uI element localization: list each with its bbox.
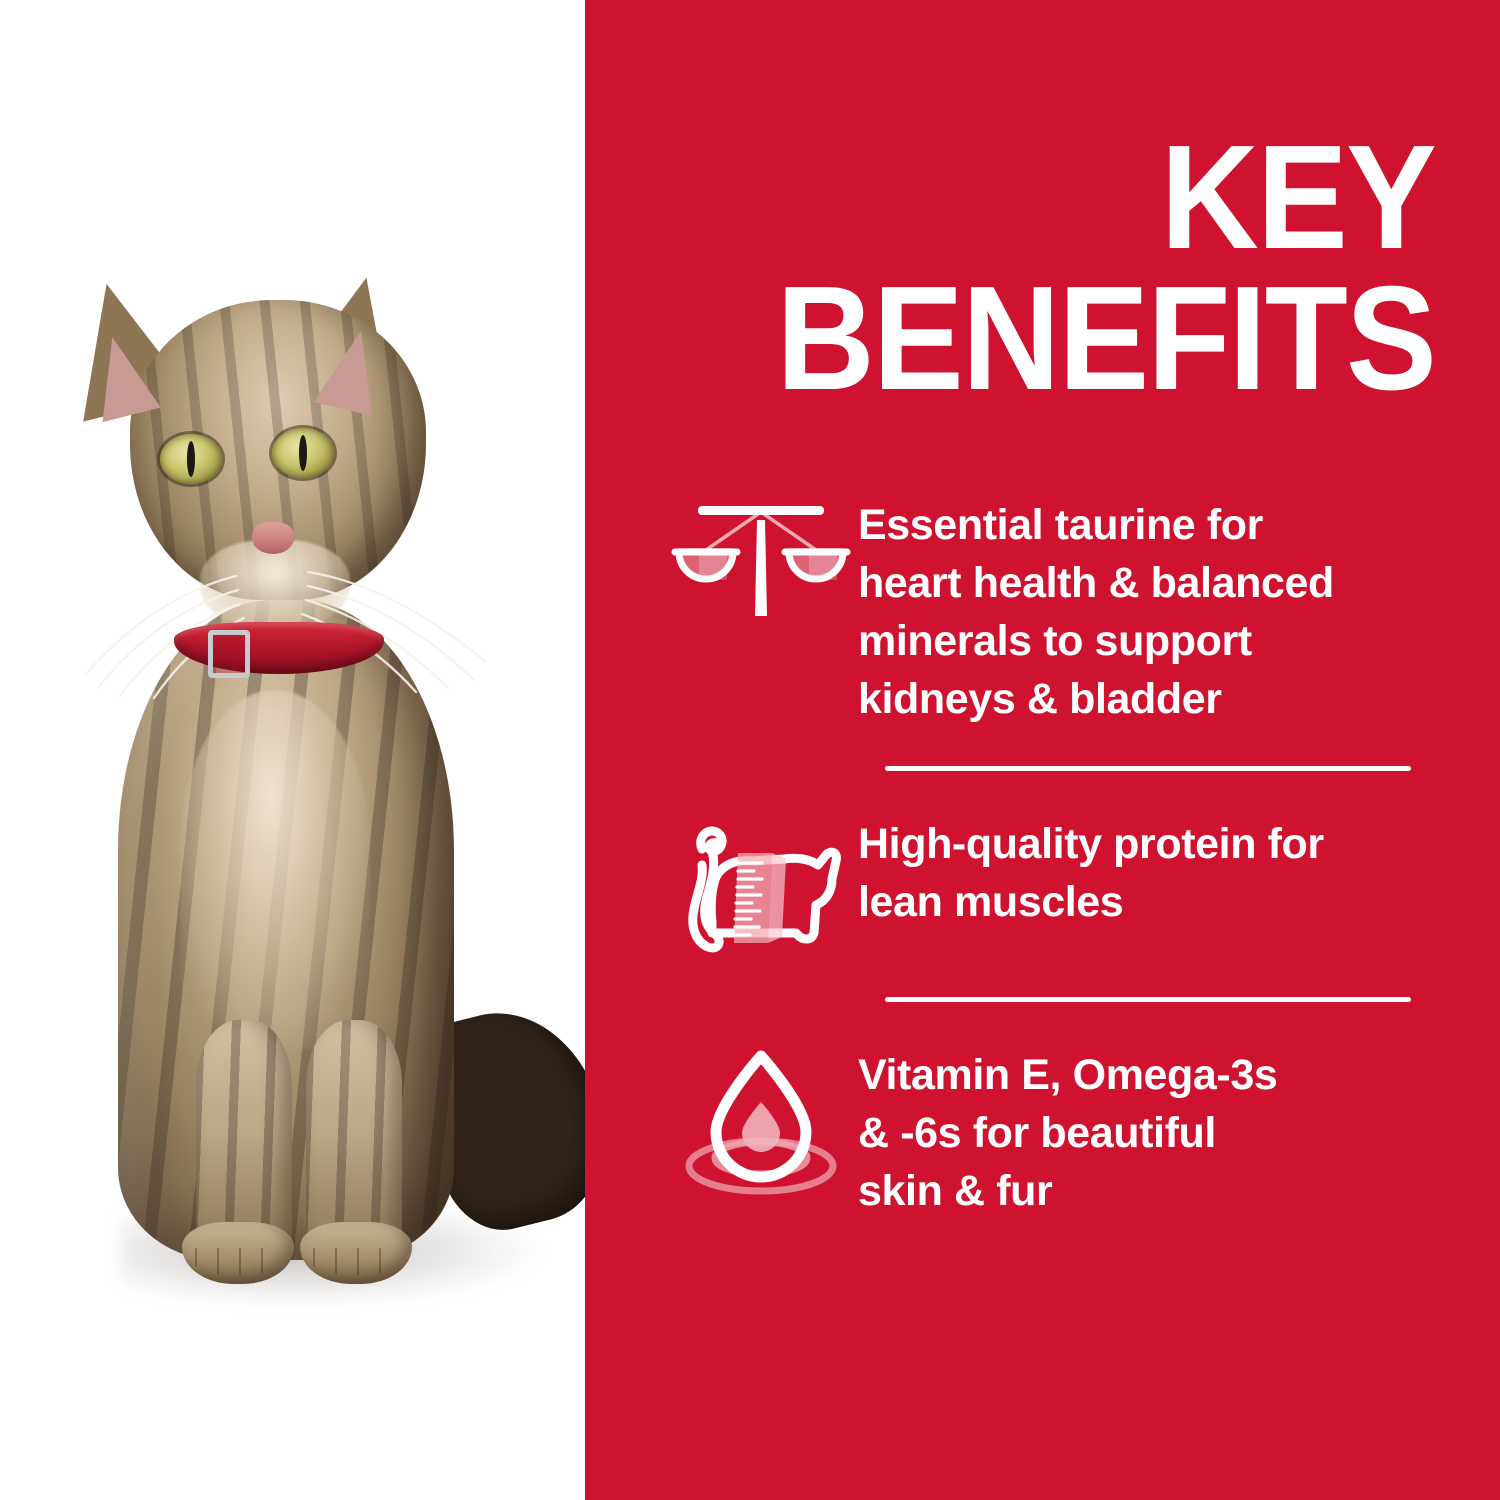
benefit-item-taurine: Essential taurine for heart health & bal…: [663, 490, 1453, 728]
benefit-text-taurine: Essential taurine for heart health & bal…: [858, 490, 1453, 728]
cat-measuring-tape-glyph: [666, 809, 856, 959]
cat-photo-panel: [0, 0, 585, 1500]
cat-pupil-left: [187, 441, 195, 477]
benefit-item-protein: High-quality protein for lean muscles: [663, 809, 1453, 959]
cat-pupil-right: [299, 435, 307, 471]
key-benefits-graphic: KEY BENEFITS: [0, 0, 1500, 1500]
water-droplet-ripple-glyph: [666, 1040, 856, 1200]
key-benefits-panel: KEY BENEFITS: [585, 0, 1500, 1500]
page-title: KEY BENEFITS: [708, 128, 1435, 409]
benefit-divider-2: [885, 997, 1411, 1002]
benefits-list: Essential taurine for heart health & bal…: [663, 490, 1453, 1220]
benefit-text-skin-fur: Vitamin E, Omega-3s & -6s for beautiful …: [858, 1040, 1453, 1220]
benefit-text-protein: High-quality protein for lean muscles: [858, 809, 1453, 931]
cat-measuring-tape-icon: [663, 809, 858, 959]
balance-scale-glyph: [666, 490, 856, 640]
cat-nose: [252, 522, 294, 554]
benefit-divider-1: [885, 766, 1411, 771]
balance-scale-icon: [663, 490, 858, 640]
cat-photo: [0, 0, 585, 1500]
cat-paw-right: [300, 1222, 412, 1284]
benefit-item-skin-fur: Vitamin E, Omega-3s & -6s for beautiful …: [663, 1040, 1453, 1220]
cat-paw-left: [182, 1222, 294, 1284]
cat-chest: [180, 690, 370, 1050]
cat-collar-buckle: [208, 630, 250, 678]
water-droplet-ripple-icon: [663, 1040, 858, 1200]
